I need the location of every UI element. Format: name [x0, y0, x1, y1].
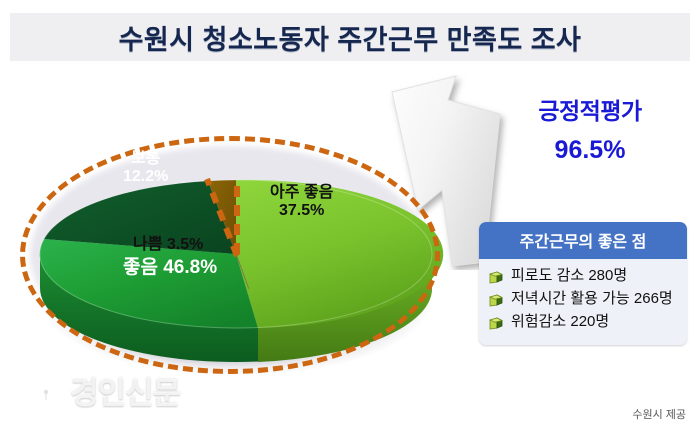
positive-evaluation-value: 96.5%	[490, 136, 690, 165]
source-credit: 수원시 제공	[632, 406, 686, 422]
list-item-text: 위험감소 220명	[511, 313, 609, 332]
slice-label-bad: 나쁨 3.5%	[133, 230, 203, 254]
benefits-box: 주간근무의 좋은 점 피로도 감소 280명 저녁시간 활용 가능 266명	[479, 222, 687, 345]
list-item-text: 저녁시간 활용 가능 266명	[511, 290, 673, 309]
highlight-dashed-ellipse	[20, 136, 440, 374]
list-item: 피로도 감소 280명	[489, 267, 681, 286]
list-item: 저녁시간 활용 가능 266명	[489, 290, 681, 309]
benefits-box-header: 주간근무의 좋은 점	[479, 222, 687, 259]
benefits-list: 피로도 감소 280명 저녁시간 활용 가능 266명 위험감소 220명	[479, 259, 687, 345]
title-band: 수원시 청소노동자 주간근무 만족도 조사	[10, 13, 690, 61]
green-cube-icon	[489, 293, 504, 308]
list-item: 위험감소 220명	[489, 313, 681, 332]
green-cube-icon	[489, 270, 504, 285]
positive-evaluation-label: 긍정적평가	[490, 92, 690, 126]
watermark: 경인신문	[28, 368, 180, 413]
positive-evaluation: 긍정적평가 96.5%	[490, 92, 690, 165]
watermark-text: 경인신문	[70, 368, 180, 413]
green-cube-icon	[489, 316, 504, 331]
pen-nib-icon	[28, 373, 64, 409]
page-title: 수원시 청소노동자 주간근무 만족도 조사	[119, 18, 582, 57]
infographic-root: 수원시 청소노동자 주간근무 만족도 조사	[0, 0, 700, 434]
list-item-text: 피로도 감소 280명	[511, 267, 627, 286]
